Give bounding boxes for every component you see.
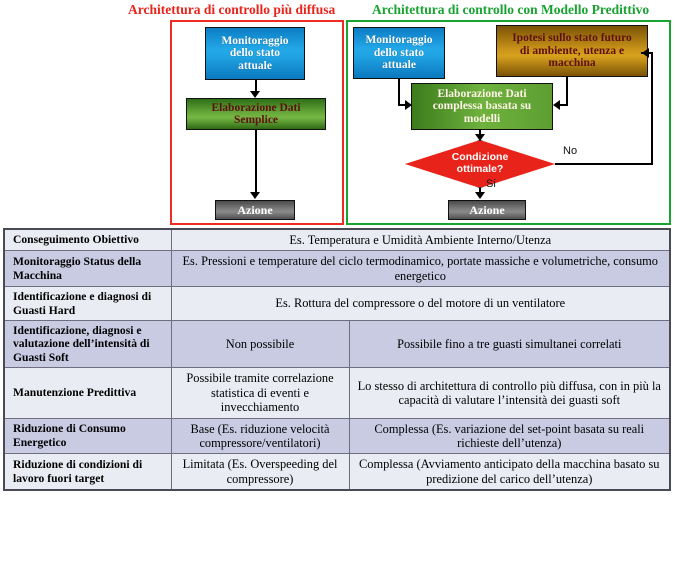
edge-label-si: Si [486, 178, 496, 190]
matrix-cell-merged: Es. Rottura del compressore o del motore… [171, 287, 670, 321]
arrowhead-decision-in [475, 134, 485, 141]
edge-label-no: No [563, 145, 577, 157]
node-left-azione: Azione [215, 200, 295, 220]
decision-label-line2: ottimale? [457, 164, 504, 176]
edge-right-ipotesi-left [560, 104, 568, 106]
matrix-cell-predittivo: Complessa (Es. variazione del set-point … [349, 418, 670, 454]
node-left-monitoraggio-line3: attuale [218, 60, 291, 72]
arrowhead-right-elab-in-left [405, 100, 412, 110]
node-left-azione-label: Azione [234, 204, 275, 217]
arrowhead-ipotesi-in [642, 48, 649, 58]
node-left-elaborazione: Elaborazione Dati Semplice [186, 98, 326, 130]
node-right-ipotesi-line3: macchina [509, 57, 635, 69]
matrix-row-label: Manutenzione Predittiva [4, 368, 171, 418]
node-left-monitoraggio: Monitoraggio dello stato attuale [205, 27, 305, 80]
matrix-row-label: Riduzione di Consumo Energetico [4, 418, 171, 454]
node-right-monitoraggio-line1: Monitoraggio [362, 34, 435, 46]
matrix-row-label: Riduzione di condizioni di lavoro fuori … [4, 454, 171, 490]
comparison-matrix: Conseguimento ObiettivoEs. Temperatura e… [3, 228, 671, 491]
node-right-elaborazione: Elaborazione Dati complessa basata su mo… [411, 83, 553, 130]
arrowhead-right-azione-in [475, 192, 485, 199]
matrix-row: Monitoraggio Status della MacchinaEs. Pr… [4, 251, 670, 287]
node-right-ipotesi-line1: Ipotesi sullo stato futuro [509, 32, 635, 44]
matrix-row-label: Identificazione, diagnosi e valutazione … [4, 321, 171, 368]
node-right-ipotesi-line2: di ambiente, utenza e [509, 45, 635, 57]
matrix-row: Manutenzione PredittivaPossibile tramite… [4, 368, 670, 418]
arrowhead-left-azione-in [250, 192, 260, 199]
matrix-row: Identificazione e diagnosi di Guasti Har… [4, 287, 670, 321]
heading-right: Architettura di controllo con Modello Pr… [372, 2, 649, 18]
edge-right-feedback-up [651, 53, 653, 165]
matrix-row: Riduzione di Consumo EnergeticoBase (Es.… [4, 418, 670, 454]
node-right-elaborazione-line1: Elaborazione Dati [430, 88, 534, 100]
node-left-elaborazione-line1: Elaborazione Dati [208, 102, 303, 114]
matrix-row-label: Identificazione e diagnosi di Guasti Har… [4, 287, 171, 321]
matrix-row-label: Conseguimento Obiettivo [4, 229, 171, 251]
node-left-elaborazione-line2: Semplice [208, 114, 303, 126]
matrix-cell-diffusa: Possibile tramite correlazione statistic… [171, 368, 349, 418]
node-right-decision: Condizione ottimale? [405, 140, 555, 188]
node-right-azione-label: Azione [466, 204, 507, 217]
matrix-cell-diffusa: Base (Es. riduzione velocità compressore… [171, 418, 349, 454]
node-left-monitoraggio-line2: dello stato [218, 47, 291, 59]
node-right-monitoraggio: Monitoraggio dello stato attuale [353, 27, 445, 79]
matrix-cell-diffusa: Non possibile [171, 321, 349, 368]
matrix-row-label: Monitoraggio Status della Macchina [4, 251, 171, 287]
matrix-cell-merged: Es. Temperatura e Umidità Ambiente Inter… [171, 229, 670, 251]
matrix-cell-predittivo: Complessa (Avviamento anticipato della m… [349, 454, 670, 490]
edge-right-decision-no [555, 163, 653, 165]
matrix-row: Identificazione, diagnosi e valutazione … [4, 321, 670, 368]
node-right-elaborazione-line3: modelli [430, 113, 534, 125]
edge-left-elab-to-azione [255, 130, 257, 192]
heading-left: Architettura di controllo più diffusa [128, 2, 335, 18]
node-right-azione: Azione [448, 200, 526, 220]
edge-right-monitor-down [398, 79, 400, 106]
node-right-monitoraggio-line3: attuale [362, 59, 435, 71]
node-right-ipotesi: Ipotesi sullo stato futuro di ambiente, … [496, 25, 648, 77]
matrix-cell-predittivo: Lo stesso di architettura di controllo p… [349, 368, 670, 418]
matrix-row: Conseguimento ObiettivoEs. Temperatura e… [4, 229, 670, 251]
matrix-body: Conseguimento ObiettivoEs. Temperatura e… [4, 229, 670, 490]
matrix-cell-diffusa: Limitata (Es. Overspeeding del compresso… [171, 454, 349, 490]
matrix-cell-merged: Es. Pressioni e temperature del ciclo te… [171, 251, 670, 287]
matrix-cell-predittivo: Possibile fino a tre guasti simultanei c… [349, 321, 670, 368]
edge-right-ipotesi-down [566, 77, 568, 106]
node-left-monitoraggio-line1: Monitoraggio [218, 35, 291, 47]
arrowhead-left-elab-in [250, 91, 260, 98]
arrowhead-right-elab-in-right [553, 100, 560, 110]
edge-left-monitor-to-elab [255, 80, 257, 91]
diagram-headings: Architettura di controllo più diffusa Ar… [0, 2, 675, 20]
matrix-row: Riduzione di condizioni di lavoro fuori … [4, 454, 670, 490]
node-right-monitoraggio-line2: dello stato [362, 47, 435, 59]
node-right-elaborazione-line2: complessa basata su [430, 100, 534, 112]
